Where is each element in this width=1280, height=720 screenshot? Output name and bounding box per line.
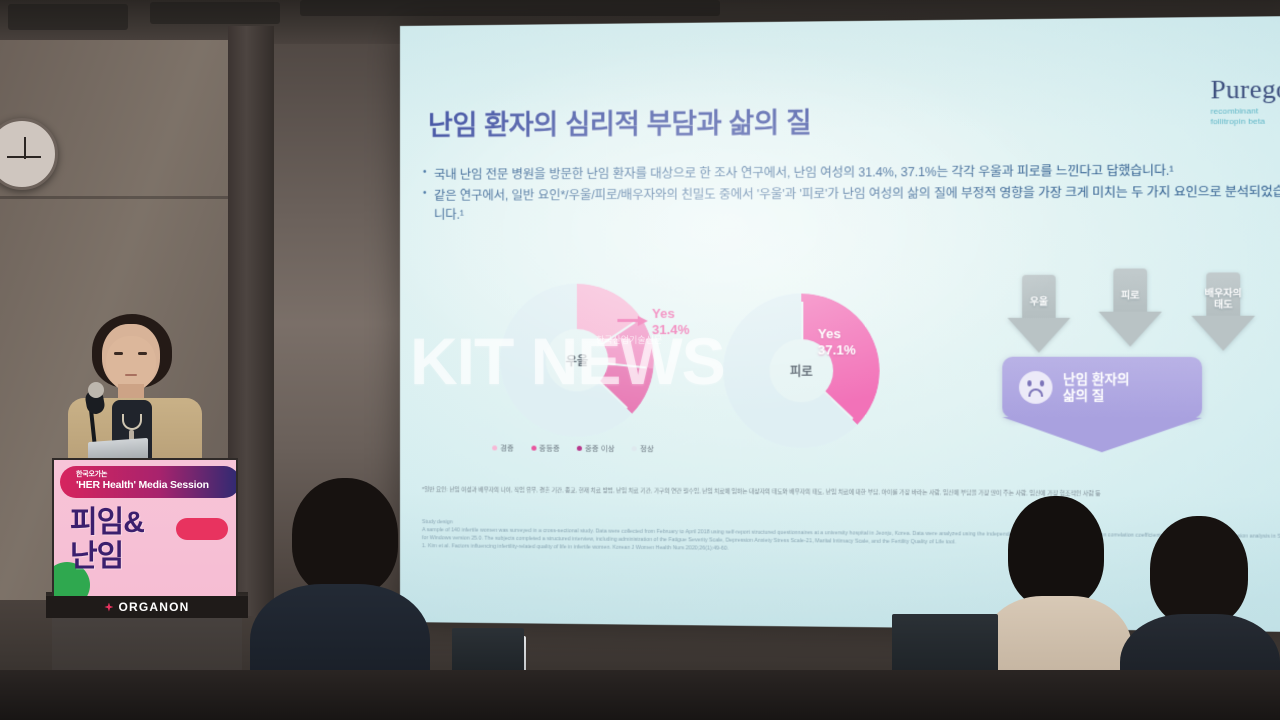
donut1-annotation: Yes 31.4% [652,306,690,339]
outcome-text: 난임 환자의 삶의 질 [1063,371,1130,404]
speaker-mouth [125,374,137,376]
arrow-head-icon [1099,312,1162,347]
sign-session-title: 'HER Health' Media Session [76,479,238,491]
chart-legend: 경증 중등증 중증 이상 정상 [492,442,654,454]
legend-swatch [632,446,637,451]
annotation-value: 37.1% [818,343,856,360]
eye-left [1027,380,1031,386]
sad-face-icon [1019,371,1052,404]
organon-mark-icon [104,603,113,612]
annotation-arrow-icon [617,316,647,325]
factor-arrow-label: 우울 [1008,297,1071,308]
outcome-line-1: 난임 환자의 [1063,371,1130,387]
arrow-head-icon [1191,316,1255,351]
sign-header-pill: 한국오가논 'HER Health' Media Session [60,466,238,498]
wall-seam [0,196,240,199]
sign-brand-bar: ORGANON [46,596,248,618]
factor-arrow-depression: 우울 [1008,275,1071,355]
sign-main-title: 피임& 난임 [70,506,220,573]
sign-main-line-1: 피임& [70,506,220,540]
annotation-label: Yes [818,326,856,343]
microphone-windscreen [88,382,104,398]
brand-tagline-1: recombinant [1210,106,1280,117]
footnote-korean: *일반 요인: 난임 여성과 배우자의 나이, 직업 유무, 결혼 기간, 종교… [422,486,1280,500]
ceiling-panel [8,4,128,30]
sign-main-line-2: 난임 [70,540,220,574]
outcome-arrow-head-icon [1002,417,1202,453]
legend-item: 중증 이상 [577,443,615,454]
legend-label: 중등증 [539,443,560,454]
annotation-label: Yes [652,306,690,322]
legend-item: 중등증 [531,443,560,454]
organon-wordmark: ORGANON [118,600,189,614]
slide-bullets: 국내 난임 전문 병원을 방문한 난임 환자를 대상으로 한 조사 연구에서, … [422,161,1280,227]
speaker-eye-right [138,352,147,355]
audience-head [1008,496,1104,608]
ceiling-panel [300,0,720,16]
ceiling-panel [150,2,280,24]
eye-right [1040,380,1044,386]
factor-arrow-label: 배우자의 태도 [1191,289,1255,312]
donut2-annotation: Yes 37.1% [818,326,856,359]
bullet-item: 국내 난임 전문 병원을 방문한 난임 환자를 대상으로 한 조사 연구에서, … [422,161,1280,185]
frown-mouth [1028,388,1043,396]
slide-title: 난임 환자의 심리적 부담과 삶의 질 [428,101,811,143]
arrow-head-icon [1008,318,1071,353]
bullet-item: 같은 연구에서, 일반 요인*/우울/피로/배우자와의 친밀도 중에서 '우울'… [422,182,1280,224]
speaker-eye-left [114,352,123,355]
donut-center-label: 우울 [546,329,609,391]
factor-arrow-fatigue: 피로 [1099,268,1162,348]
puregon-logo: Puregon recombinant follitropin beta [1210,76,1280,127]
foreground-shadow [0,670,1280,720]
legend-label: 중증 이상 [585,443,615,454]
photo-scene: Puregon recombinant follitropin beta 난임 … [0,0,1280,720]
legend-swatch [577,446,582,451]
legend-swatch [531,446,536,451]
sign-company-kr: 한국오가논 [76,469,238,479]
legend-swatch [492,445,497,450]
legend-label: 경증 [500,442,514,453]
factor-arrow-spouse-attitude: 배우자의 태도 [1191,272,1255,352]
outcome-callout: 난임 환자의 삶의 질 [1002,357,1202,419]
factor-arrow-label: 피로 [1099,291,1162,302]
podium-signage: 한국오가논 'HER Health' Media Session 피임& 난임 [52,458,238,598]
donut-chart-fatigue: 피로 [723,293,879,448]
legend-item: 정상 [632,443,654,454]
audience-head [292,478,398,596]
legend-item: 경증 [492,442,514,453]
donut-chart-depression: 우울 [500,284,654,437]
brand-name: Puregon [1210,76,1280,104]
legend-label: 정상 [640,443,654,454]
brand-tagline-2: follitropin beta [1210,116,1280,127]
outcome-line-2: 삶의 질 [1063,388,1130,404]
audience-head [1150,516,1248,626]
annotation-value: 31.4% [652,322,690,338]
